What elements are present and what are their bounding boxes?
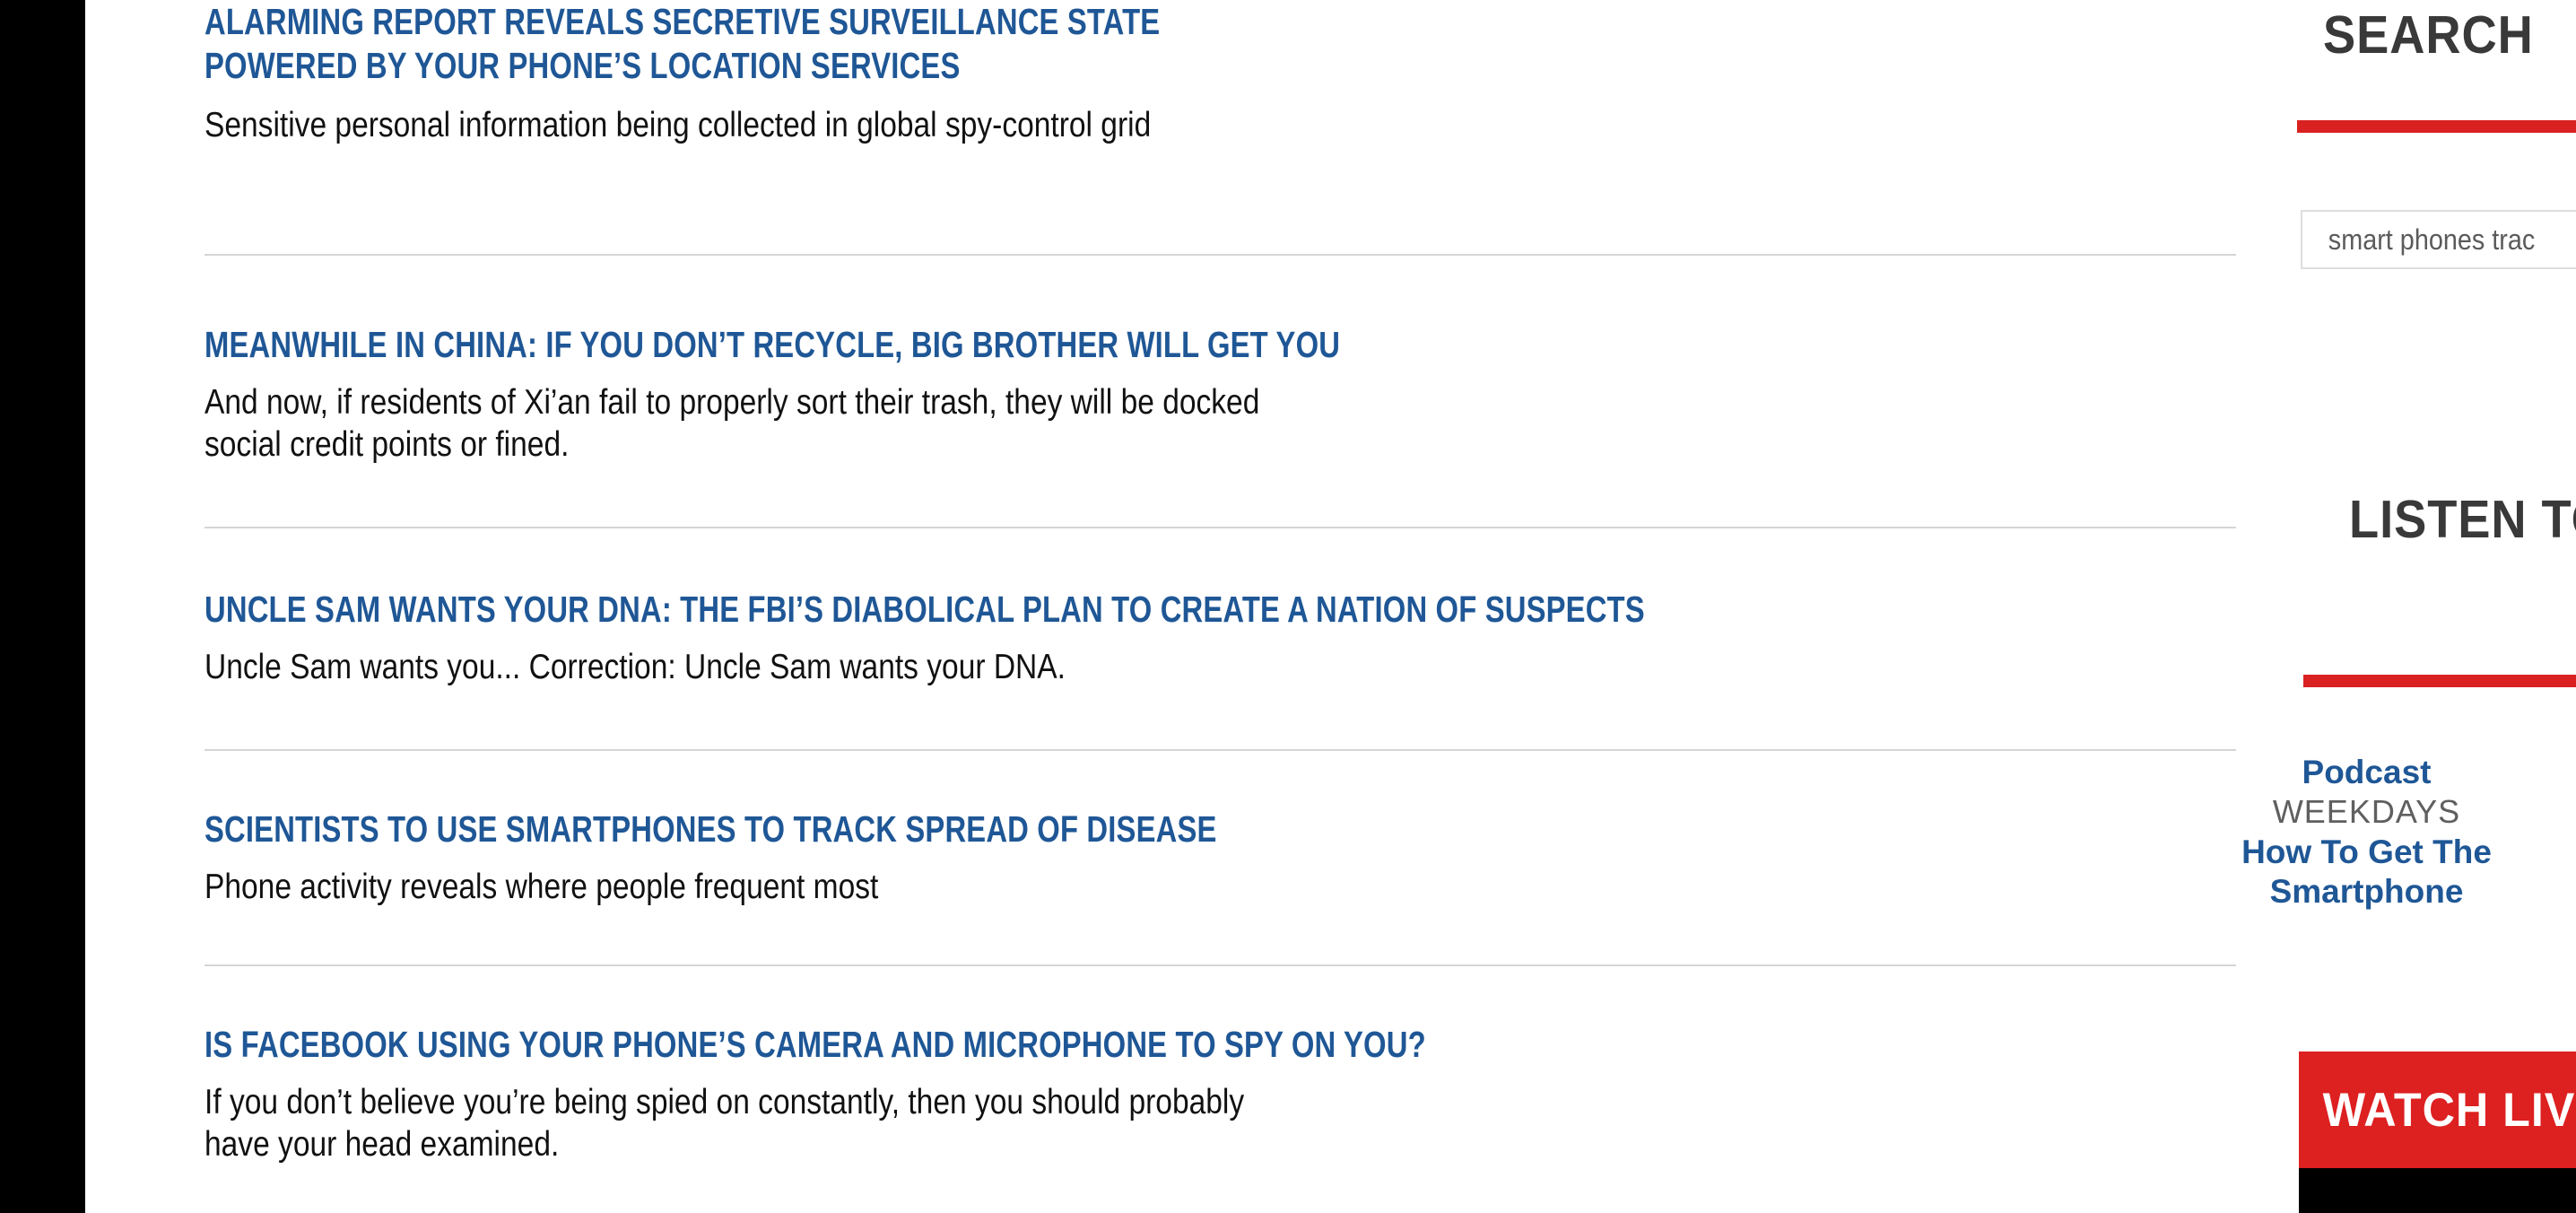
- article-headline-link[interactable]: ALARMING REPORT REVEALS SECRETIVE SURVEI…: [205, 0, 1231, 88]
- article-divider: [205, 749, 2236, 751]
- article-divider: [205, 527, 2236, 528]
- podcast-episode-link-line1[interactable]: How To Get The: [2157, 833, 2576, 872]
- article-list: ALARMING REPORT REVEALS SECRETIVE SURVEI…: [85, 0, 2157, 1213]
- search-input-wrapper[interactable]: [2301, 210, 2576, 269]
- article-excerpt: Uncle Sam wants you... Correction: Uncle…: [205, 646, 2210, 688]
- article-item: IS FACEBOOK USING YOUR PHONE’S CAMERA AN…: [205, 1023, 2241, 1165]
- right-sidebar: SEARCH LISTEN TO Podcast WEEKDAYS How To…: [2157, 0, 2576, 1213]
- article-item: ALARMING REPORT REVEALS SECRETIVE SURVEI…: [205, 0, 2241, 146]
- article-item: SCIENTISTS TO USE SMARTPHONES TO TRACK S…: [205, 807, 2241, 908]
- watch-live-label: WATCH LIVE: [2299, 1083, 2576, 1138]
- podcast-title-link[interactable]: Podcast: [2157, 754, 2576, 791]
- page-root: ALARMING REPORT REVEALS SECRETIVE SURVEI…: [0, 0, 2576, 1213]
- watch-live-player[interactable]: [2299, 1168, 2576, 1213]
- listen-heading: LISTEN TO: [2349, 492, 2576, 547]
- listen-heading-underline: [2303, 675, 2576, 687]
- left-rail: [0, 0, 85, 1213]
- article-excerpt: And now, if residents of Xi’an fail to p…: [205, 381, 1300, 466]
- article-excerpt: If you don’t believe you’re being spied …: [205, 1081, 1300, 1165]
- podcast-promo: Podcast WEEKDAYS How To Get The Smartpho…: [2157, 754, 2576, 912]
- article-headline-link[interactable]: SCIENTISTS TO USE SMARTPHONES TO TRACK S…: [205, 807, 2242, 851]
- article-headline-link[interactable]: UNCLE SAM WANTS YOUR DNA: THE FBI’S DIAB…: [205, 588, 2242, 632]
- article-item: MEANWHILE IN CHINA: IF YOU DON’T RECYCLE…: [205, 323, 2241, 466]
- search-heading: SEARCH: [2323, 7, 2534, 63]
- podcast-schedule: WEEKDAYS: [2157, 791, 2576, 833]
- article-excerpt: Phone activity reveals where people freq…: [205, 866, 2210, 908]
- article-headline-link[interactable]: MEANWHILE IN CHINA: IF YOU DON’T RECYCLE…: [205, 323, 2242, 367]
- article-headline-link[interactable]: IS FACEBOOK USING YOUR PHONE’S CAMERA AN…: [205, 1023, 2242, 1067]
- watch-live-banner[interactable]: WATCH LIVE: [2299, 1052, 2576, 1168]
- article-item: UNCLE SAM WANTS YOUR DNA: THE FBI’S DIAB…: [205, 588, 2241, 688]
- podcast-episode-link-line2[interactable]: Smartphone: [2157, 872, 2576, 912]
- search-input[interactable]: [2302, 212, 2554, 267]
- search-heading-underline: [2297, 120, 2576, 133]
- article-excerpt: Sensitive personal information being col…: [205, 104, 1308, 146]
- article-divider: [205, 964, 2236, 966]
- article-divider: [205, 254, 2236, 256]
